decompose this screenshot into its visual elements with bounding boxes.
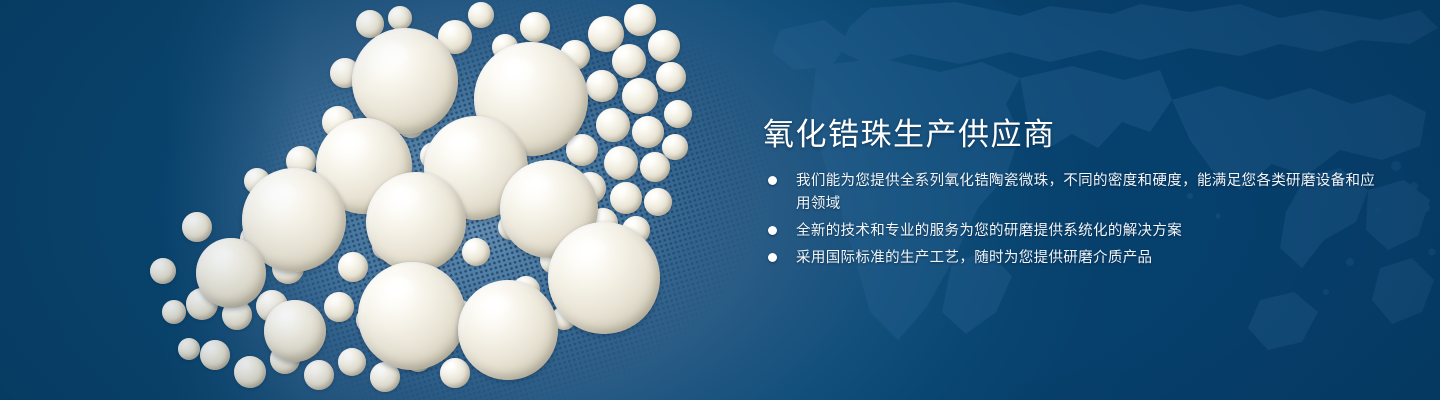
bullet-dot-icon [768,226,777,235]
feature-list-item: 全新的技术和专业的服务为您的研磨提供系统化的解决方案 [766,220,1386,243]
banner-title: 氧化锆珠生产供应商 [763,109,1056,154]
feature-text: 采用国际标准的生产工艺，随时为您提供研磨介质产品 [796,250,1152,266]
bullet-dot-icon [768,253,777,262]
feature-list-item: 采用国际标准的生产工艺，随时为您提供研磨介质产品 [766,247,1386,270]
banner-content: 氧化锆珠生产供应商 我们能为您提供全系列氧化锆陶瓷微珠，不同的密度和硬度，能满足… [763,0,1403,400]
feature-list: 我们能为您提供全系列氧化锆陶瓷微珠，不同的密度和硬度，能满足您各类研磨设备和应用… [766,170,1386,274]
feature-list-item: 我们能为您提供全系列氧化锆陶瓷微珠，不同的密度和硬度，能满足您各类研磨设备和应用… [766,170,1386,216]
bullet-dot-icon [768,176,777,185]
hero-banner: 氧化锆珠生产供应商 我们能为您提供全系列氧化锆陶瓷微珠，不同的密度和硬度，能满足… [0,0,1440,400]
feature-text: 我们能为您提供全系列氧化锆陶瓷微珠，不同的密度和硬度，能满足您各类研磨设备和应用… [796,173,1375,212]
feature-text: 全新的技术和专业的服务为您的研磨提供系统化的解决方案 [796,223,1182,239]
